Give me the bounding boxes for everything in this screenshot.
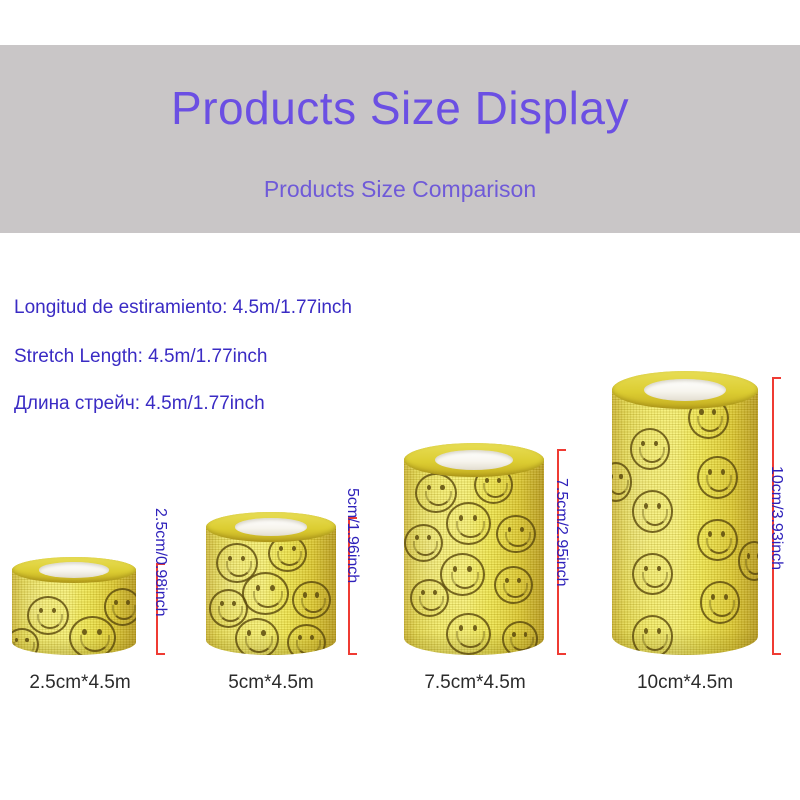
smiley-face-icon (235, 618, 279, 655)
smiley-face-icon (27, 596, 69, 635)
smiley-face-icon (410, 579, 449, 617)
smiley-face-icon (446, 613, 491, 655)
product-roll-2 (206, 512, 336, 655)
product-roll-3 (404, 443, 544, 655)
size-caption-4: 10cm*4.5m (600, 671, 770, 695)
spec-line-russian: Длина стрейч: 4.5m/1.77inch (14, 392, 265, 416)
roll-inner-core (235, 518, 308, 536)
size-caption-2: 5cm*4.5m (191, 671, 351, 695)
page-title: Products Size Display (0, 83, 800, 133)
size-caption-3: 7.5cm*4.5m (390, 671, 560, 695)
smiley-face-icon (12, 628, 39, 655)
smiley-face-icon (292, 581, 331, 620)
smiley-face-icon (287, 624, 326, 655)
product-size-display-page: Products Size Display Products Size Comp… (0, 0, 800, 800)
smiley-face-icon (630, 428, 671, 471)
smiley-face-icon (700, 581, 741, 624)
roll-fabric-body (612, 371, 758, 655)
smiley-face-icon (104, 588, 136, 625)
spec-line-english: Stretch Length: 4.5m/1.77inch (14, 345, 268, 369)
smiley-face-icon (632, 490, 673, 533)
smiley-face-icon (697, 456, 738, 499)
smiley-face-icon (738, 541, 758, 581)
smiley-face-icon (697, 519, 738, 562)
dimension-label-2: 5cm/1.96inch (343, 488, 361, 583)
smiley-face-icon (69, 616, 116, 655)
page-subtitle: Products Size Comparison (0, 175, 800, 203)
smiley-face-icon (494, 566, 533, 604)
spec-line-spanish: Longitud de estiramiento: 4.5m/1.77inch (14, 296, 352, 320)
product-roll-4 (612, 371, 758, 655)
dimension-label-3: 7.5cm/2.95inch (552, 478, 570, 587)
header-band (0, 45, 800, 233)
smiley-face-icon (632, 553, 673, 596)
smiley-face-icon (415, 473, 457, 513)
smiley-face-icon (446, 502, 491, 544)
roll-inner-core (39, 562, 108, 577)
smiley-face-icon (496, 515, 535, 553)
smiley-face-icon (612, 462, 632, 502)
smiley-face-icon (404, 524, 443, 562)
smiley-face-icon (632, 615, 673, 655)
dimension-label-4: 10cm/3.93inch (767, 466, 785, 570)
dimension-label-1: 2.5cm/0.98inch (151, 508, 169, 617)
smiley-face-icon (502, 621, 538, 655)
smiley-face-icon (242, 572, 289, 615)
size-caption-1: 2.5cm*4.5m (0, 671, 160, 695)
product-roll-1 (12, 557, 136, 655)
